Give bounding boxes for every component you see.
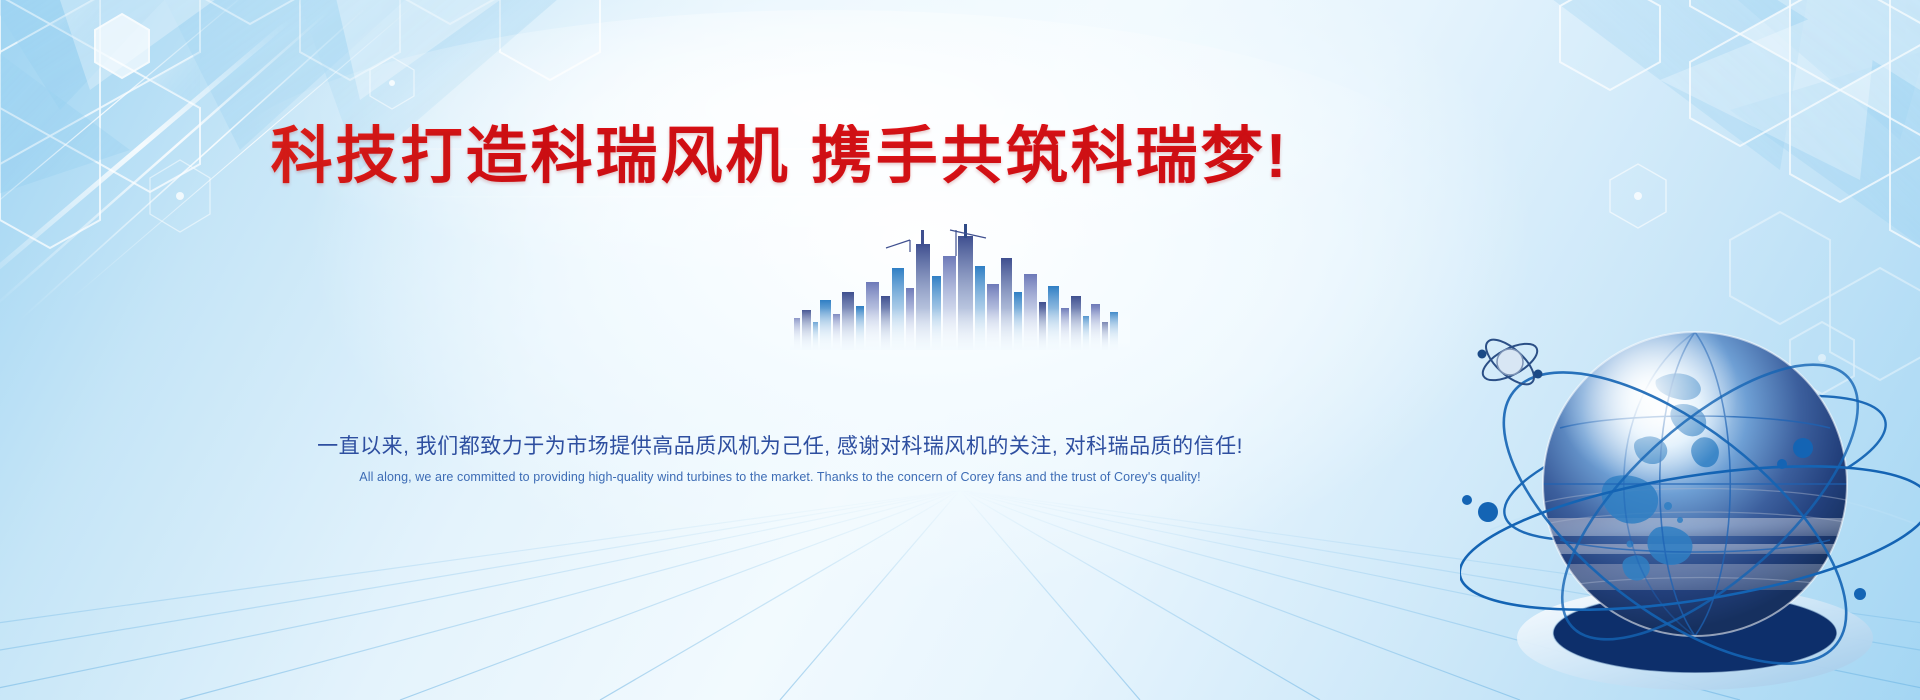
banner-content: 科技打造科瑞风机 携手共筑科瑞梦! 一直以来, 我们都致力于为市场提供高品质风机…	[0, 0, 1920, 700]
subtitle-english: All along, we are committed to providing…	[0, 470, 1560, 484]
page-title: 科技打造科瑞风机 携手共筑科瑞梦!	[0, 124, 1560, 189]
subtitle-chinese: 一直以来, 我们都致力于为市场提供高品质风机为己任, 感谢对科瑞风机的关注, 对…	[0, 430, 1560, 460]
hero-banner: 科技打造科瑞风机 携手共筑科瑞梦! 一直以来, 我们都致力于为市场提供高品质风机…	[0, 0, 1920, 700]
